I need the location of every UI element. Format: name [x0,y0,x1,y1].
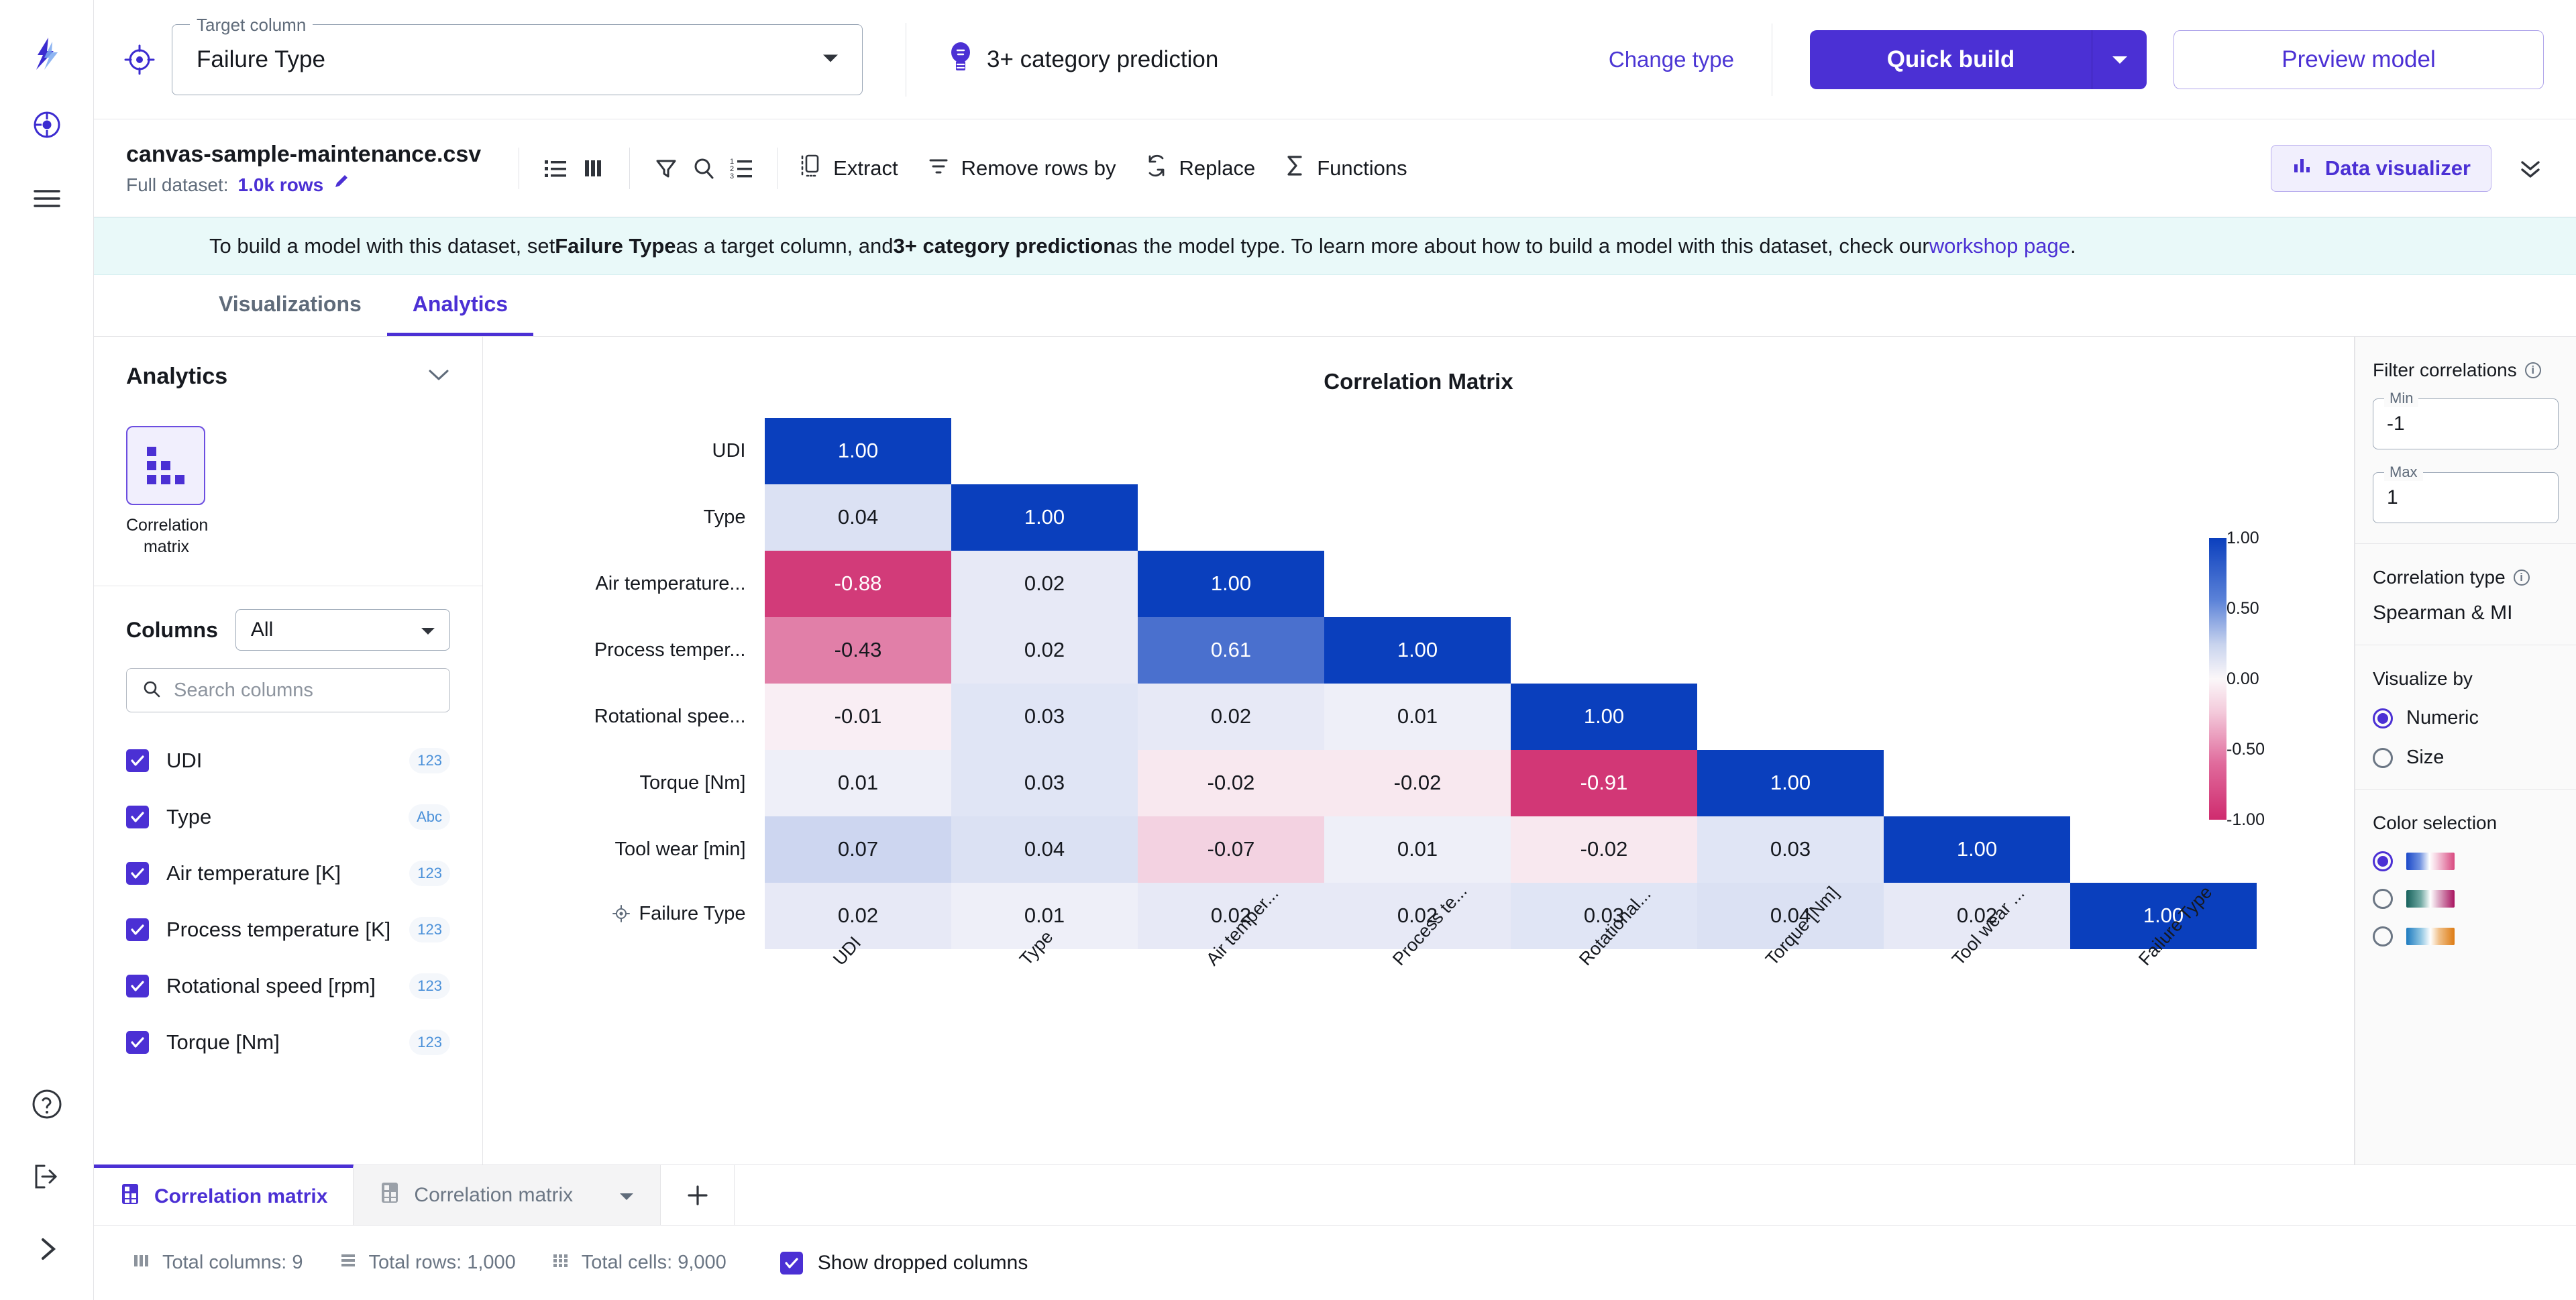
columns-list: UDI 123 Type Abc Air temperature [K] 123… [94,733,482,1071]
matrix-cell-empty [1697,484,1884,551]
banner-text-2: as a target column, and [676,234,894,258]
matrix-row: Air temperature...-0.880.021.00 [590,551,2257,617]
matrix-cell[interactable]: 1.00 [951,484,1138,551]
colorbar-tick-labels: 1.000.500.00-0.50-1.00 [2226,529,2280,830]
matrix-cell[interactable]: -0.02 [1511,816,1697,883]
target-column-value: Failure Type [197,46,325,73]
help-icon[interactable] [23,1080,71,1128]
dataset-name: canvas-sample-maintenance.csv [126,140,481,168]
status-total-rows-label: Total rows: 1,000 [369,1252,516,1274]
matrix-row-label: Process temper... [590,617,765,684]
matrix-row: Process temper...-0.430.020.611.00 [590,617,2257,684]
color-option-blue-white-pink[interactable] [2373,851,2559,871]
matrix-cell[interactable]: 0.02 [951,551,1138,617]
matrix-cell[interactable]: 0.04 [951,816,1138,883]
quick-build-button[interactable]: Quick build [1810,30,2092,89]
matrix-cell[interactable]: 1.00 [1697,750,1884,816]
chart-settings-panel: Filter correlations i Min Max Correlatio… [2355,337,2576,1164]
column-checkbox[interactable] [126,806,149,828]
colorbar-tick: 0.50 [2226,599,2259,618]
bulb-icon [949,41,972,78]
search-icon[interactable] [685,150,722,187]
matrix-cell-empty [1884,684,2070,750]
matrix-row-label: Failure Type [590,883,765,949]
prediction-type-label: 3+ category prediction [987,46,1218,73]
top-toolbar: Target column Failure Type 3+ category p… [94,0,2576,119]
columns-icon[interactable] [574,150,612,187]
matrix-dot [147,447,156,456]
grid-icon [551,1250,571,1276]
banner-bold-modeltype: 3+ category prediction [894,234,1116,258]
filter-correlations-label: Filter correlations [2373,360,2517,381]
radio-button[interactable] [2373,851,2393,871]
filter-correlations-title: Filter correlations i [2373,360,2559,381]
matrix-row: Torque [Nm]0.010.03-0.02-0.02-0.911.00 [590,750,2257,816]
status-total-rows: Total rows: 1,000 [338,1250,516,1276]
main-area: Target column Failure Type 3+ category p… [94,0,2576,1300]
rows-icon [338,1250,358,1276]
correlation-matrix-chart: Correlation Matrix UDI1.00Type0.041.00Ai… [483,337,2355,1164]
sigma-icon [1283,152,1306,184]
panel-tabs: Visualizations Analytics [94,275,2576,337]
visualize-option-label: Numeric [2406,707,2479,729]
matrix-cell[interactable]: -0.43 [765,617,951,684]
correlation-matrix-icon [379,1181,400,1210]
target-column-select[interactable]: Target column Failure Type [172,24,863,95]
column-checkbox[interactable] [126,749,149,772]
column-name: UDI [166,749,392,773]
matrix-cell[interactable]: 0.03 [1697,816,1884,883]
bottom-tab-correlation-matrix-2[interactable]: Correlation matrix [354,1165,661,1225]
matrix-row: Tool wear [min]0.070.04-0.070.01-0.020.0… [590,816,2257,883]
column-checkbox[interactable] [126,862,149,885]
colorbar-tick: -1.00 [2226,810,2265,830]
correlation-type-value: Spearman & MI [2373,602,2559,625]
color-option-teal-white-magenta[interactable] [2373,889,2559,909]
toolbar-divider [629,148,630,189]
quick-build-group: Quick build [1810,30,2147,89]
show-dropped-checkbox[interactable] [780,1252,803,1275]
matrix-dot [175,461,184,470]
status-total-cells: Total cells: 9,000 [551,1250,727,1276]
remove-rows-button[interactable]: Remove rows by [924,152,1119,184]
banner-text-4: . [2070,234,2076,258]
matrix-cell[interactable]: 0.01 [1324,684,1511,750]
info-banner: To build a model with this dataset, set … [94,217,2576,275]
colorbar-tick: 0.00 [2226,669,2259,689]
status-bar: Total columns: 9 Total rows: 1,000 Total… [94,1225,2576,1300]
matrix-cell[interactable]: 0.03 [951,684,1138,750]
max-correlation-input[interactable] [2387,486,2544,509]
toolbar-divider [906,23,906,97]
max-correlation-field[interactable]: Max [2373,472,2559,523]
column-type-badge: 123 [409,861,450,886]
matrix-row-label: Tool wear [min] [590,816,765,883]
column-type-badge: 123 [409,748,450,773]
column-item-air-temperature[interactable]: Air temperature [K] 123 [94,845,482,902]
colorbar-tick: -0.50 [2226,740,2265,759]
functions-label: Functions [1317,156,1407,180]
matrix-row-label: Air temperature... [590,551,765,617]
matrix-cell-empty [1884,551,2070,617]
filter-icon[interactable] [647,150,685,187]
matrix-cell-empty [2070,418,2257,484]
toolbar-divider-2 [1772,23,1772,96]
column-checkbox[interactable] [126,918,149,941]
banner-text-3: as the model type. To learn more about h… [1116,234,1929,258]
matrix-cell-empty [1511,551,1697,617]
matrix-cell[interactable]: 1.00 [1511,684,1697,750]
workshop-page-link[interactable]: workshop page [1929,234,2070,258]
radio-button[interactable] [2373,708,2393,728]
colorbar-tick: 1.00 [2226,529,2259,548]
extract-icon [798,152,822,184]
column-name: Process temperature [K] [166,918,392,942]
radio-button[interactable] [2373,926,2393,946]
matrix-cell[interactable]: -0.88 [765,551,951,617]
replace-icon [1144,152,1169,184]
target-icon [121,41,158,78]
columns-icon [131,1250,152,1276]
change-type-link[interactable]: Change type [1609,47,1734,72]
info-icon[interactable]: i [2514,570,2530,586]
bottom-tab-correlation-matrix-1[interactable]: Correlation matrix [94,1164,354,1225]
prediction-type: 3+ category prediction [949,41,1218,78]
visualize-option-numeric[interactable]: Numeric [2373,707,2559,729]
chevron-down-icon [2111,54,2129,65]
banner-text-1: To build a model with this dataset, set [209,234,555,258]
column-type-badge: 123 [409,1030,450,1055]
column-item-process-temperature[interactable]: Process temperature [K] 123 [94,902,482,958]
min-label: Min [2384,390,2418,407]
matrix-dot [161,447,170,456]
show-dropped-columns-toggle[interactable]: Show dropped columns [780,1252,1028,1275]
matrix-cell[interactable]: -0.91 [1511,750,1697,816]
bottom-tab-label: Correlation matrix [414,1184,573,1207]
bottom-tab-label: Correlation matrix [154,1185,327,1208]
replace-label: Replace [1179,156,1256,180]
matrix-cell[interactable]: -0.01 [765,684,951,750]
matrix-cell[interactable]: 1.00 [1324,617,1511,684]
correlation-matrix-icon [119,1182,141,1211]
matrix-cell[interactable]: 1.00 [765,418,951,484]
color-selection-title: Color selection [2373,812,2559,834]
matrix-cell[interactable]: -0.02 [1324,750,1511,816]
column-type-badge: 123 [409,973,450,999]
extract-button[interactable]: Extract [796,152,900,184]
matrix-cell[interactable]: 0.02 [951,617,1138,684]
logout-icon[interactable] [23,1152,71,1201]
matrix-cell-empty [1884,418,2070,484]
functions-button[interactable]: Functions [1281,152,1409,184]
matrix-row-label: Torque [Nm] [590,750,765,816]
matrix-row: UDI1.00 [590,418,2257,484]
correlation-matrix-table: UDI1.00Type0.041.00Air temperature...-0.… [590,417,2257,949]
toolbar-divider [519,148,519,189]
extract-label: Extract [833,156,898,180]
show-dropped-label: Show dropped columns [818,1252,1028,1275]
sidebar-item-datasets[interactable] [23,174,71,223]
columns-filter-value: All [251,618,273,641]
color-swatch [2406,853,2455,870]
add-tab-button[interactable] [661,1165,735,1225]
column-checkbox[interactable] [126,975,149,997]
status-total-columns: Total columns: 9 [131,1250,303,1276]
column-item-torque[interactable]: Torque [Nm] 123 [94,1014,482,1071]
matrix-cell-empty [1324,484,1511,551]
bar-chart-icon [2292,155,2313,182]
full-dataset-label: Full dataset: [126,174,229,196]
banner-bold-target: Failure Type [555,234,676,258]
matrix-cell-empty [1511,484,1697,551]
search-columns-input[interactable] [174,680,435,702]
sidebar-item-models[interactable] [23,101,71,149]
info-icon[interactable]: i [2525,362,2541,378]
matrix-dot [147,461,156,470]
min-correlation-input[interactable] [2387,413,2544,435]
filter-rows-icon [926,152,951,184]
matrix-cell-empty [1324,418,1511,484]
columns-header: Columns All [94,586,482,651]
matrix-cell-empty [1138,418,1324,484]
min-correlation-field[interactable]: Min [2373,398,2559,449]
column-name: Air temperature [K] [166,861,392,885]
matrix-cell-empty [1884,750,2070,816]
dataset-rows[interactable]: 1.0k rows [238,174,324,196]
matrix-dot [175,475,184,484]
matrix-cell[interactable]: 1.00 [1884,816,2070,883]
matrix-cell[interactable]: 0.61 [1138,617,1324,684]
matrix-cell[interactable]: 0.07 [765,816,951,883]
column-item-udi[interactable]: UDI 123 [94,733,482,789]
matrix-row-label: UDI [590,418,765,484]
matrix-dot [175,447,184,456]
matrix-cell[interactable]: -0.07 [1138,816,1324,883]
matrix-row: Type0.041.00 [590,484,2257,551]
matrix-cell-empty [1697,617,1884,684]
column-item-type[interactable]: Type Abc [94,789,482,845]
max-label: Max [2384,464,2423,481]
matrix-row-label: Rotational spee... [590,684,765,750]
chart-title: Correlation Matrix [483,337,2354,394]
column-name: Type [166,805,391,829]
chevron-down-icon[interactable] [427,368,450,386]
workspace: Analytics Correlation matrix Columns [94,337,2576,1164]
color-swatch [2406,928,2455,945]
matrix-x-axis-labels: UDITypeAir temper...Process te...Rotatio… [590,949,2354,1057]
correlation-matrix-card[interactable]: Correlation matrix [126,426,207,557]
correlation-matrix-card-label: Correlation matrix [126,514,207,557]
edit-pencil-icon[interactable] [333,174,350,196]
correlation-type-title: Correlation type i [2373,567,2559,588]
status-total-cells-label: Total cells: 9,000 [582,1252,727,1274]
matrix-cell-empty [1697,684,1884,750]
visualize-by-section: Visualize by Numeric Size [2355,645,2576,790]
column-type-badge: Abc [409,804,450,830]
search-columns-box[interactable] [126,668,450,712]
target-column-legend: Target column [190,15,313,35]
column-item-rotational-speed[interactable]: Rotational speed [rpm] 123 [94,958,482,1014]
matrix-cell[interactable]: 0.01 [1324,816,1511,883]
left-rail [0,0,94,1300]
matrix-cell-empty [1511,418,1697,484]
chevron-down-icon [822,52,839,66]
chevron-right-icon[interactable] [23,1225,71,1273]
matrix-cell[interactable]: 0.02 [1138,684,1324,750]
list-view-icon[interactable] [537,150,574,187]
matrix-dot [161,461,170,470]
dataset-toolbar: canvas-sample-maintenance.csv Full datas… [94,119,2576,217]
matrix-cell[interactable]: 0.04 [765,484,951,551]
color-swatch [2406,890,2455,908]
preview-model-button[interactable]: Preview model [2173,30,2544,89]
remove-rows-label: Remove rows by [961,156,1116,180]
analytics-section-header[interactable]: Analytics [94,337,482,406]
matrix-cell-empty [951,418,1138,484]
toolbar-divider [777,148,778,189]
matrix-cell[interactable]: -0.02 [1138,750,1324,816]
matrix-cell-empty [1697,551,1884,617]
quick-build-dropdown-button[interactable] [2092,30,2147,89]
columns-filter-select[interactable]: All [235,609,450,651]
visualize-option-label: Size [2406,747,2444,769]
dataset-subinfo: Full dataset: 1.0k rows [126,174,481,196]
correlation-type-section: Correlation type i Spearman & MI [2355,544,2576,645]
matrix-cell[interactable]: 0.02 [765,883,951,949]
status-total-columns-label: Total columns: 9 [162,1252,303,1274]
analytics-title: Analytics [126,364,227,390]
correlation-type-label: Correlation type [2373,567,2506,588]
matrix-row-label: Type [590,484,765,551]
tab-analytics[interactable]: Analytics [387,275,533,336]
matrix-cell-empty [1884,484,2070,551]
matrix-container: UDI1.00Type0.041.00Air temperature...-0.… [483,417,2354,1057]
matrix-cell-empty [1884,617,2070,684]
columns-label: Columns [126,618,218,643]
color-selection-section: Color selection [2355,790,2576,967]
matrix-row: Rotational spee...-0.010.030.020.011.00 [590,684,2257,750]
colorbar-gradient [2209,538,2226,820]
filter-correlations-section: Filter correlations i Min Max [2355,337,2576,544]
chevron-double-down-icon[interactable] [2512,150,2549,187]
column-checkbox[interactable] [126,1031,149,1054]
column-name: Rotational speed [rpm] [166,974,392,998]
chevron-down-icon[interactable] [619,1184,635,1207]
analytics-panel: Analytics Correlation matrix Columns [94,337,483,1164]
data-visualizer-label: Data visualizer [2325,156,2471,180]
matrix-dot [147,475,156,484]
matrix-cell-empty [1697,418,1884,484]
bottom-tab-strip: Correlation matrix Correlation matrix [94,1164,2576,1225]
radio-button[interactable] [2373,748,2393,768]
dataset-info: canvas-sample-maintenance.csv Full datas… [126,140,481,196]
radio-button[interactable] [2373,889,2393,909]
data-visualizer-button[interactable]: Data visualizer [2271,145,2491,192]
svg-text:3: 3 [730,172,734,180]
replace-button[interactable]: Replace [1142,152,1258,184]
matrix-cell-empty [1511,617,1697,684]
matrix-cell[interactable]: 0.01 [765,750,951,816]
search-icon [142,679,162,702]
matrix-cell-empty [1324,551,1511,617]
tab-visualizations[interactable]: Visualizations [193,275,387,336]
correlation-matrix-icon [126,426,205,505]
numbered-list-icon[interactable]: 123 [722,150,760,187]
visualize-by-title: Visualize by [2373,668,2559,690]
column-type-badge: 123 [409,917,450,942]
matrix-cell-empty [1138,484,1324,551]
visualize-option-size[interactable]: Size [2373,747,2559,769]
matrix-cell[interactable]: 1.00 [1138,551,1324,617]
color-option-blue-white-orange[interactable] [2373,926,2559,946]
column-name: Torque [Nm] [166,1030,392,1054]
matrix-dot [161,475,170,484]
sagemaker-logo-icon [25,32,68,75]
matrix-cell[interactable]: 0.03 [951,750,1138,816]
chevron-down-icon [420,618,436,641]
